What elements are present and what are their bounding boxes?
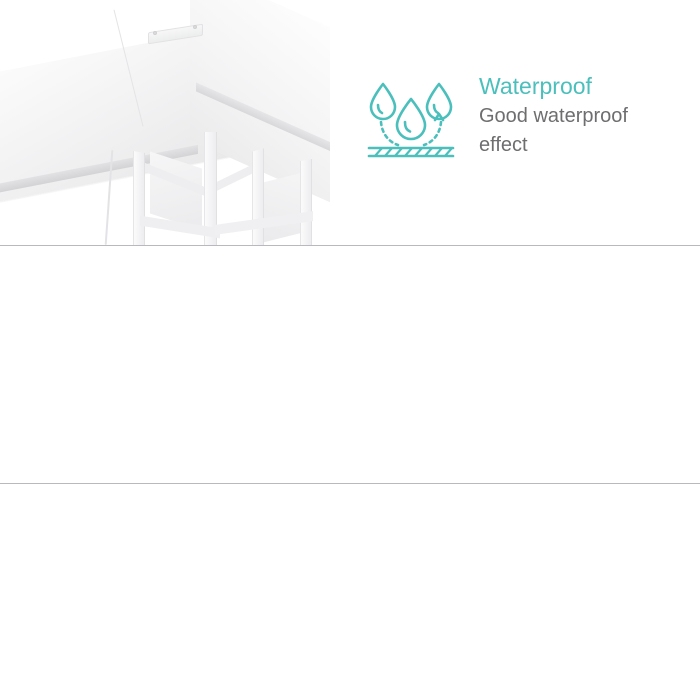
feature-panel-structural: Enhanced Structural Heavy Duty Metal Des… bbox=[0, 246, 700, 483]
infographic-page: Waterproof Good waterproof effect Enhanc… bbox=[0, 0, 700, 700]
desk-leg bbox=[133, 151, 145, 245]
feature-text-block: Waterproof Good waterproof effect bbox=[479, 72, 628, 159]
feature-waterproof: Waterproof Good waterproof effect bbox=[365, 72, 628, 169]
water-droplets-icon bbox=[365, 72, 457, 169]
feature-panel-waterproof: Waterproof Good waterproof effect bbox=[0, 0, 700, 245]
feature-panel-legpads: Adjustable Leg Pads Suitable for uneven … bbox=[0, 484, 700, 700]
feature-subtitle-line: Good waterproof bbox=[479, 103, 628, 130]
feature-subtitle-line: effect bbox=[479, 132, 628, 159]
plate-screw bbox=[153, 31, 157, 35]
plate-screw bbox=[193, 25, 197, 29]
desk-inner-panel bbox=[258, 172, 304, 243]
desk-corner-photo bbox=[0, 0, 330, 245]
desk-leg bbox=[252, 148, 264, 245]
feature-title: Waterproof bbox=[479, 72, 628, 101]
desk-leg bbox=[300, 159, 312, 245]
